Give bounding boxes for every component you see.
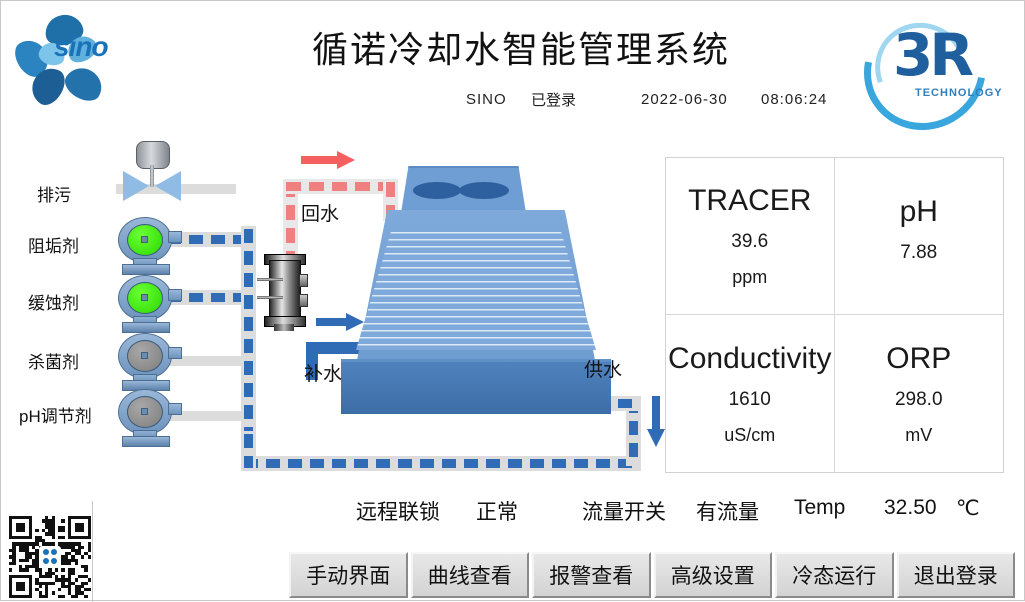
qr-module — [68, 562, 71, 565]
logo-petal — [60, 62, 108, 107]
qr-module — [52, 591, 55, 594]
measurement-unit: mV — [905, 425, 932, 446]
temp-label: Temp — [794, 496, 845, 520]
cold-run-button[interactable]: 冷态运行 — [775, 552, 894, 598]
fan-blade-right — [459, 182, 509, 199]
qr-module — [61, 519, 64, 522]
three-r-logo-subtext: TECHNOLOGY — [915, 87, 1003, 99]
measurement-unit: uS/cm — [724, 425, 775, 446]
qr-module — [88, 536, 91, 539]
logout-button[interactable]: 退出登录 — [897, 552, 1016, 598]
qr-module — [45, 595, 48, 598]
login-status: 已登录 — [531, 89, 576, 110]
app-window: sino 循诺冷却水智能管理系统 SINO 已登录 2022-06-30 08:… — [0, 0, 1025, 601]
qr-module — [48, 575, 51, 578]
qr-module — [84, 582, 87, 585]
pipe-loop-left-vertical — [241, 226, 256, 441]
qr-module — [81, 529, 84, 532]
qr-module — [52, 536, 55, 539]
button-bar: 手动界面 曲线查看 报警查看 高级设置 冷态运行 退出登录 — [289, 552, 1015, 598]
pipe-dash — [244, 229, 253, 438]
sino-logo: sino — [9, 9, 159, 109]
three-r-logo: 3R TECHNOLOGY — [863, 7, 1018, 117]
trend-view-button[interactable]: 曲线查看 — [411, 552, 530, 598]
qr-logo-dot — [51, 549, 57, 555]
pump-outlet-icon — [168, 231, 182, 243]
pipe-loop-bottom-left-elbow — [241, 431, 256, 471]
measurement-value: 298.0 — [895, 389, 943, 411]
qr-module — [25, 559, 28, 562]
label-biocide: 杀菌剂 — [28, 348, 79, 373]
pump-shaft-icon — [141, 236, 148, 243]
system-date: 2022-06-30 — [641, 91, 728, 108]
qr-code — [9, 516, 91, 598]
label-makeup-water: 补水 — [304, 359, 342, 386]
pump-shaft-icon — [141, 352, 148, 359]
three-r-logo-text: 3R — [893, 21, 970, 89]
page-title: 循诺冷却水智能管理系统 — [251, 21, 791, 73]
qr-module — [52, 582, 55, 585]
label-return-water: 回水 — [301, 199, 339, 226]
arrow-makeup-head-icon — [346, 313, 364, 331]
qr-module — [75, 562, 78, 565]
probe-foot-icon — [274, 324, 294, 331]
pump-base-icon — [122, 436, 170, 447]
pump-base-icon — [122, 322, 170, 333]
label-scale-inhibitor: 阻垢剂 — [28, 232, 79, 257]
status-bar: 远程联锁 正常 流量开关 有流量 Temp 32.50 ℃ — [356, 496, 1016, 528]
pump-shaft-icon — [141, 408, 148, 415]
measurement-cell-ph: pH 7.88 — [835, 158, 1004, 315]
qr-module — [61, 529, 64, 532]
pump-outlet-icon — [168, 289, 182, 301]
qr-module — [9, 568, 12, 571]
arrow-return-head-icon — [337, 151, 355, 169]
system-time: 08:06:24 — [761, 91, 827, 108]
probe-nozzle-icon — [299, 294, 308, 307]
advanced-settings-button[interactable]: 高级设置 — [654, 552, 773, 598]
valve-right-body-icon — [155, 171, 181, 201]
blowdown-valve[interactable] — [119, 141, 185, 201]
fan-housing — [401, 166, 526, 213]
tower-louvers — [356, 232, 596, 350]
label-blowdown: 排污 — [37, 181, 71, 206]
left-divider — [92, 501, 93, 602]
probe-nozzle-icon — [299, 274, 308, 287]
qr-logo-dot — [51, 558, 57, 564]
arrow-supply-head-icon — [647, 429, 665, 447]
tower-basin — [341, 362, 611, 414]
qr-module — [75, 595, 78, 598]
qr-module — [39, 585, 42, 588]
flow-switch-label: 流量开关 — [582, 496, 666, 526]
qr-module — [22, 588, 25, 591]
pump-base-icon — [122, 264, 170, 275]
pipe-dash — [244, 434, 253, 468]
measurement-name: pH — [900, 195, 938, 228]
current-user: SINO — [466, 91, 507, 108]
pipe-loop-bottom — [241, 456, 641, 471]
remote-interlock-label: 远程联锁 — [356, 496, 440, 526]
label-ph-adjuster: pH调节剂 — [19, 402, 92, 427]
label-corrosion-inhibitor: 缓蚀剂 — [28, 289, 79, 314]
remote-interlock-value: 正常 — [476, 496, 518, 526]
qr-module — [88, 549, 91, 552]
qr-center-logo — [39, 546, 61, 568]
qr-module — [81, 546, 84, 549]
measurement-value: 1610 — [729, 389, 771, 411]
label-supply-water: 供水 — [584, 355, 622, 382]
header: sino 循诺冷却水智能管理系统 SINO 已登录 2022-06-30 08:… — [1, 1, 1025, 126]
qr-logo-dot — [43, 558, 49, 564]
measurement-cell-conductivity: Conductivity 1610 uS/cm — [666, 315, 835, 472]
qr-module — [75, 578, 78, 581]
qr-module — [25, 568, 28, 571]
qr-module — [61, 595, 64, 598]
qr-module — [29, 536, 32, 539]
measurement-cell-orp: ORP 298.0 mV — [835, 315, 1004, 472]
qr-module — [81, 555, 84, 558]
qr-module — [61, 568, 64, 571]
manual-interface-button[interactable]: 手动界面 — [289, 552, 408, 598]
probe-rod-icon — [257, 278, 283, 281]
pump-outlet-icon — [168, 403, 182, 415]
qr-module — [84, 568, 87, 571]
measurement-value: 39.6 — [731, 231, 768, 253]
pipe-dash — [244, 459, 638, 468]
sino-logo-text: sino — [54, 31, 108, 63]
header-info-row: SINO 已登录 2022-06-30 08:06:24 — [251, 91, 951, 115]
flow-switch-value: 有流量 — [696, 496, 759, 526]
probe-body-icon — [269, 260, 301, 320]
qr-logo-dot — [43, 549, 49, 555]
pump-biocide[interactable] — [118, 333, 176, 389]
pump-shaft-icon — [141, 294, 148, 301]
qr-module — [84, 595, 87, 598]
measurement-name: Conductivity — [668, 342, 831, 375]
probe-rod-icon — [257, 296, 283, 299]
qr-module — [29, 595, 32, 598]
qr-module — [55, 568, 58, 571]
qr-module — [88, 578, 91, 581]
qr-module — [58, 588, 61, 591]
measurement-unit: ppm — [732, 267, 767, 288]
pump-ph-adjuster[interactable] — [118, 389, 176, 445]
sensor-probe-assembly[interactable] — [263, 250, 307, 332]
arrow-supply-shaft — [652, 396, 660, 431]
measurement-name: ORP — [886, 342, 951, 375]
arrow-makeup-shaft — [316, 318, 349, 326]
qr-module — [35, 529, 38, 532]
measurement-cell-tracer: TRACER 39.6 ppm — [666, 158, 835, 315]
measurement-name: TRACER — [688, 184, 811, 217]
temp-unit: ℃ — [956, 496, 980, 521]
qr-module — [88, 588, 91, 591]
valve-left-body-icon — [123, 171, 149, 201]
qr-module — [22, 529, 25, 532]
alarm-view-button[interactable]: 报警查看 — [532, 552, 651, 598]
pump-outlet-icon — [168, 347, 182, 359]
qr-module — [71, 572, 74, 575]
qr-module — [88, 555, 91, 558]
pump-corrosion-inhibitor[interactable] — [118, 275, 176, 331]
arrow-return-shaft — [301, 156, 339, 164]
measurement-value: 7.88 — [900, 242, 937, 264]
fan-blade-left — [413, 182, 461, 199]
measurement-panel: TRACER 39.6 ppm pH 7.88 Conductivity 161… — [665, 157, 1004, 473]
qr-module — [12, 562, 15, 565]
temp-value: 32.50 — [884, 496, 937, 520]
qr-module — [61, 536, 64, 539]
pump-scale-inhibitor[interactable] — [118, 217, 176, 273]
valve-stem-icon — [150, 165, 154, 187]
